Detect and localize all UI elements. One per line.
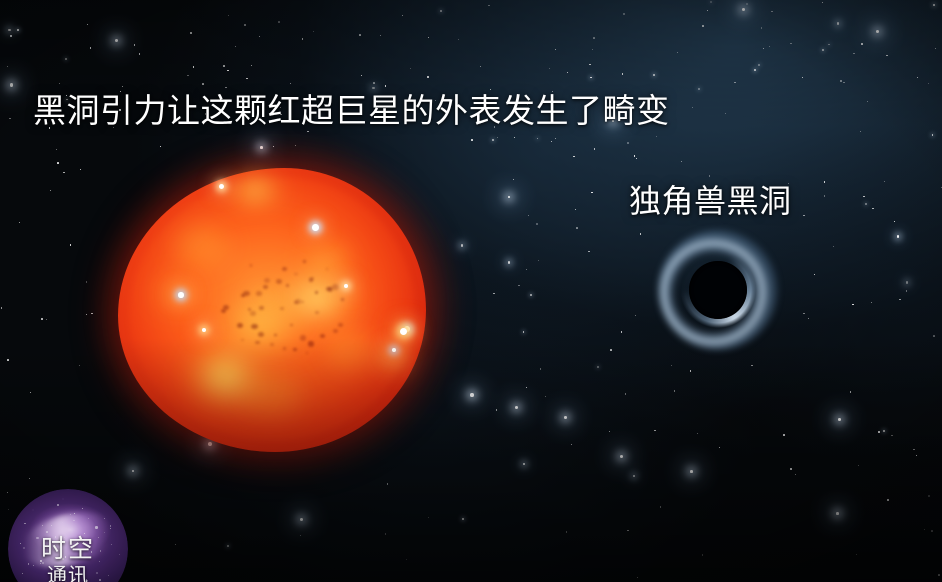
watermark-speck bbox=[84, 533, 85, 534]
black-hole bbox=[658, 230, 778, 350]
star-granulation bbox=[264, 278, 270, 283]
star-surface-point bbox=[344, 284, 348, 288]
star-granulation bbox=[255, 341, 260, 345]
star-limb-hotspot bbox=[400, 328, 407, 335]
star-granulation bbox=[259, 306, 264, 310]
page-title: 黑洞引力让这颗红超巨星的外表发生了畸变 bbox=[33, 92, 670, 130]
star-granulation bbox=[283, 347, 287, 350]
star-granulation bbox=[294, 273, 297, 276]
star-granulation bbox=[315, 291, 319, 294]
watermark-line-2: 通讯 bbox=[8, 566, 128, 582]
star-granulation bbox=[258, 332, 264, 337]
star-granulation bbox=[303, 260, 306, 262]
watermark-speck bbox=[57, 504, 59, 506]
star-convection-plume bbox=[144, 264, 208, 322]
star-granulation bbox=[309, 278, 314, 282]
watermark-speck bbox=[46, 531, 48, 533]
star-surface-point bbox=[178, 292, 184, 298]
red-supergiant-star bbox=[104, 156, 440, 462]
star-granulation bbox=[320, 334, 325, 338]
watermark-line-1: 时空 bbox=[8, 537, 128, 562]
star-convection-plume bbox=[366, 334, 422, 382]
star-convection-plume bbox=[222, 362, 318, 428]
star-granulation bbox=[295, 299, 301, 304]
star-granulation bbox=[341, 298, 344, 301]
star-granulation bbox=[270, 343, 274, 346]
star-convection-plume bbox=[212, 162, 298, 218]
black-hole-event-horizon bbox=[689, 261, 747, 319]
star-surface-point bbox=[219, 184, 224, 189]
watermark-speck bbox=[95, 526, 97, 528]
watermark-speck bbox=[88, 518, 89, 519]
star-granulation bbox=[250, 311, 256, 316]
star-granulation bbox=[243, 291, 250, 296]
star-surface-point bbox=[312, 224, 319, 231]
star-granulation bbox=[256, 291, 262, 296]
star-granulation bbox=[280, 307, 284, 310]
space-illustration-canvas: 黑洞引力让这颗红超巨星的外表发生了畸变 独角兽黑洞 时空 通讯 bbox=[0, 0, 942, 582]
label-black-hole: 独角兽黑洞 bbox=[629, 183, 792, 220]
watermark-speck bbox=[70, 514, 71, 515]
star-granulation bbox=[290, 324, 293, 326]
